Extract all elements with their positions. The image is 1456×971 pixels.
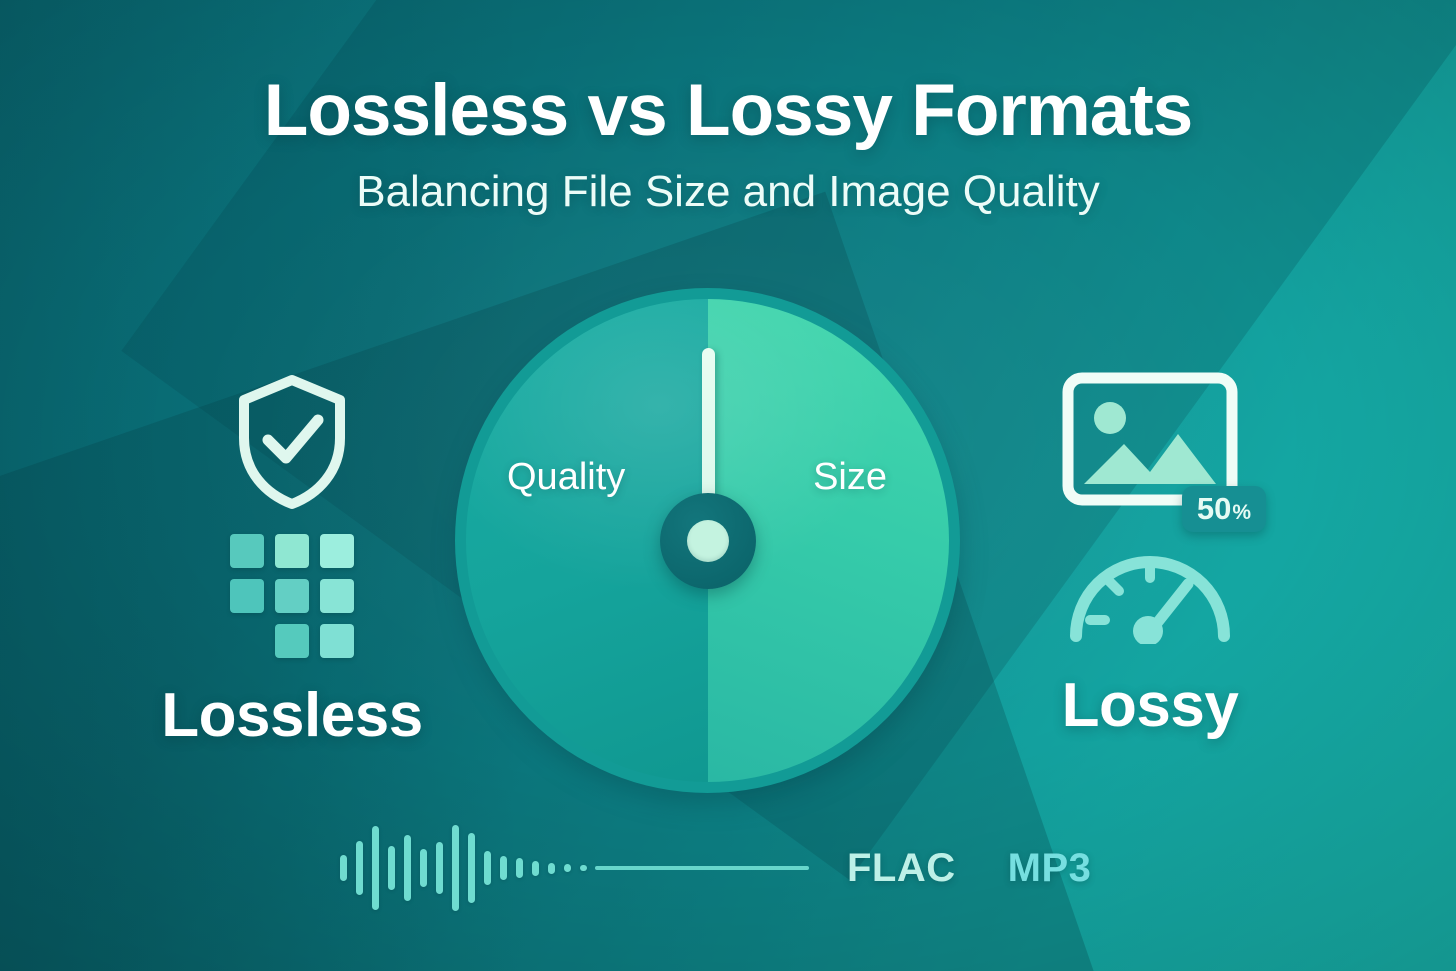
waveform-bar <box>404 835 411 901</box>
pixel-cell <box>275 534 309 568</box>
gauge-label-quality: Quality <box>507 456 625 499</box>
pixel-cell <box>320 534 354 568</box>
pixel-cell <box>275 579 309 613</box>
waveform-bar <box>452 825 459 911</box>
compression-badge: 50% <box>1182 486 1266 532</box>
shield-check-icon-wrap <box>142 372 442 512</box>
waveform-bar <box>420 849 427 887</box>
waveform-bar <box>388 846 395 890</box>
pixel-cell <box>230 579 264 613</box>
waveform-bar <box>484 851 491 885</box>
quality-size-gauge: Quality Size <box>455 288 960 793</box>
lossless-label: Lossless <box>142 680 442 751</box>
header: Lossless vs Lossy Formats Balancing File… <box>0 74 1456 217</box>
gauge-hub-center-dot <box>687 520 729 562</box>
waveform-bar <box>372 826 379 910</box>
pixel-grid-icon <box>230 534 354 658</box>
lossy-column: 50% Lossy <box>1000 372 1300 741</box>
gauge-label-size: Size <box>813 456 887 499</box>
speedometer-icon-wrap <box>1062 536 1238 644</box>
speedometer-icon <box>1062 536 1238 644</box>
page-title: Lossless vs Lossy Formats <box>0 74 1456 147</box>
waveform-bar <box>548 863 555 874</box>
lossless-column: Lossless <box>142 372 442 751</box>
waveform-bar <box>564 864 571 872</box>
gauge-hub <box>660 493 756 589</box>
page-subtitle: Balancing File Size and Image Quality <box>0 167 1456 217</box>
waveform-flatline <box>595 866 809 870</box>
waveform-bar <box>580 865 587 871</box>
pixel-cell-empty <box>230 624 264 658</box>
pixel-cell <box>320 624 354 658</box>
pixel-cell <box>320 579 354 613</box>
pixel-cell <box>275 624 309 658</box>
shield-check-icon <box>232 372 352 512</box>
waveform-bar <box>340 855 347 881</box>
waveform-bar <box>356 841 363 895</box>
format-label-flac: FLAC <box>847 846 956 891</box>
lossy-label: Lossy <box>1000 670 1300 741</box>
pixel-cell <box>230 534 264 568</box>
badge-unit: % <box>1232 502 1251 523</box>
waveform-bar <box>516 858 523 878</box>
waveform-bar <box>468 833 475 903</box>
image-photo-icon-wrap: 50% <box>1062 372 1238 506</box>
waveform-bar <box>532 861 539 876</box>
waveform-bar <box>436 842 443 894</box>
badge-value: 50 <box>1197 493 1231 524</box>
audio-waveform-icon <box>340 823 587 913</box>
waveform-bar <box>500 856 507 880</box>
waveform-row: FLAC MP3 <box>340 818 1140 918</box>
format-label-mp3: MP3 <box>1008 846 1092 891</box>
infographic-canvas: Lossless vs Lossy Formats Balancing File… <box>0 0 1456 971</box>
